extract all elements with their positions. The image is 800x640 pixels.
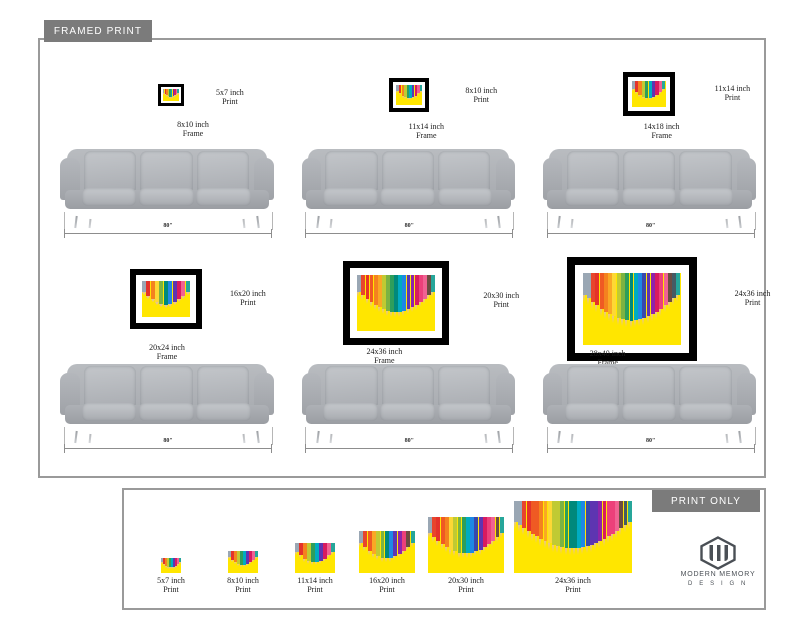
sofa-seat-cushion bbox=[139, 188, 194, 206]
pencil-tip bbox=[307, 561, 309, 564]
sofa-seat-cushion bbox=[438, 403, 493, 421]
print-only-item[interactable]: 24x36 inchPrint bbox=[514, 501, 632, 594]
pencil bbox=[500, 517, 504, 534]
print-size-caption: 8x10 inchPrint bbox=[227, 576, 259, 594]
pencil-tip bbox=[544, 541, 546, 548]
measure-guide-line bbox=[272, 427, 273, 445]
measure-guide-line bbox=[755, 427, 756, 445]
sofa-width-label: 80" bbox=[160, 438, 175, 444]
pencil-tip bbox=[466, 553, 468, 558]
pencil-tip bbox=[385, 558, 387, 562]
pencil-tip bbox=[577, 548, 579, 555]
dimension-tick bbox=[754, 444, 755, 453]
sofa-width-dimension: 80" bbox=[547, 224, 755, 238]
pencil-tip bbox=[431, 292, 433, 297]
pencil-tip bbox=[382, 309, 384, 314]
artwork-colored-pencils bbox=[396, 85, 422, 105]
room-scene: 20x30 inchPrint24x36 inchFrame80" bbox=[281, 259, 522, 474]
brand-logo: MODERN MEMORY D E S I G N bbox=[672, 536, 764, 598]
dimension-tick bbox=[512, 444, 513, 453]
print-size-caption: 11x14 inchPrint bbox=[297, 576, 332, 594]
picture-frame[interactable] bbox=[567, 257, 697, 361]
pencil-tip bbox=[638, 95, 640, 97]
logo-wordmark: MODERN MEMORY bbox=[681, 570, 756, 581]
pencil-tip bbox=[299, 555, 301, 558]
sofa-back-cushion bbox=[84, 151, 136, 192]
sofa-width-label: 80" bbox=[402, 223, 417, 229]
pencil-tip bbox=[411, 307, 413, 312]
frame-mat bbox=[350, 268, 442, 338]
dimension-bar bbox=[547, 233, 755, 234]
pencil bbox=[411, 531, 415, 544]
sofa bbox=[58, 357, 276, 443]
pencil-tip bbox=[586, 546, 588, 553]
pencil bbox=[331, 543, 335, 552]
pencil-tip bbox=[527, 531, 529, 538]
pencil-tip bbox=[635, 92, 637, 94]
pencil-tip bbox=[393, 556, 395, 560]
pencil-tip bbox=[390, 312, 392, 317]
dimension-tick bbox=[547, 444, 548, 453]
sofa-back-cushion bbox=[325, 366, 377, 407]
pencil-tip bbox=[573, 548, 575, 555]
sofa-seat-cushion bbox=[622, 403, 677, 421]
sofa-back-cushion bbox=[197, 151, 249, 192]
frame-mat bbox=[136, 275, 196, 323]
picture-frame[interactable] bbox=[623, 72, 675, 116]
picture-frame[interactable] bbox=[130, 269, 202, 329]
pencil-tip bbox=[361, 295, 363, 300]
pencil bbox=[676, 273, 680, 295]
pencil-tip bbox=[668, 302, 670, 309]
dimension-bar bbox=[547, 448, 755, 449]
pencil bbox=[628, 501, 632, 523]
artwork-colored-pencils bbox=[514, 501, 632, 573]
sofa-back-cushion bbox=[438, 151, 490, 192]
pencil-tip bbox=[615, 531, 617, 538]
pencil-tip bbox=[594, 543, 596, 550]
artwork-colored-pencils bbox=[359, 531, 415, 573]
pencil-tip bbox=[357, 292, 359, 297]
print-size-caption: 24x36 inchPrint bbox=[735, 289, 771, 308]
pencil-tip bbox=[647, 316, 649, 323]
pencil-tip bbox=[619, 528, 621, 535]
pencil-tip bbox=[632, 89, 634, 91]
sofa-seat-cushion bbox=[380, 403, 435, 421]
artwork-colored-pencils bbox=[428, 517, 504, 573]
pencil-tip bbox=[617, 318, 619, 325]
print-size-caption: 20x30 inchPrint bbox=[483, 291, 519, 310]
pencil-tip bbox=[319, 561, 321, 564]
sofa-width-label: 80" bbox=[643, 438, 658, 444]
pencil-tip bbox=[458, 553, 460, 558]
pencil-tip bbox=[535, 536, 537, 543]
dimension-tick bbox=[271, 444, 272, 453]
pencil-tip bbox=[603, 539, 605, 546]
measure-guide-line bbox=[272, 212, 273, 230]
pencil-tip bbox=[612, 316, 614, 323]
pencil-tip bbox=[228, 557, 230, 559]
pencil-tip bbox=[231, 560, 233, 562]
pencil-tip bbox=[583, 295, 585, 302]
sofa-back-cushion bbox=[438, 366, 490, 407]
sofa-back-cushion bbox=[84, 366, 136, 407]
sofa-seat-cushion bbox=[323, 403, 378, 421]
pencil-tip bbox=[173, 302, 177, 305]
sofa-back-cushion bbox=[140, 366, 192, 407]
pencil-tip bbox=[487, 544, 489, 549]
pencil-tip bbox=[655, 312, 657, 319]
pencil-tip bbox=[531, 534, 533, 541]
pencil-tip bbox=[651, 314, 653, 321]
pencil-tip bbox=[381, 558, 383, 562]
sofa-back-cushion bbox=[197, 366, 249, 407]
pencil-tip bbox=[234, 562, 236, 564]
pencil-tip bbox=[402, 551, 404, 555]
frame-size-caption: 11x14 inchFrame bbox=[381, 122, 471, 141]
sofa-seat-cushion bbox=[196, 188, 251, 206]
pencil bbox=[662, 81, 665, 89]
sofa-seat-cushion bbox=[323, 188, 378, 206]
print-only-item[interactable]: 11x14 inchPrint bbox=[284, 543, 346, 594]
sofa bbox=[299, 142, 517, 228]
frame-mat bbox=[575, 265, 689, 353]
sofa-seat-cushion bbox=[139, 403, 194, 421]
pencil-tip bbox=[186, 292, 190, 295]
pencil-tip bbox=[303, 559, 305, 562]
sofa-width-dimension: 80" bbox=[305, 224, 513, 238]
pencil-tip bbox=[565, 548, 567, 555]
sofa-seat-cushion bbox=[679, 188, 734, 206]
pencil-tip bbox=[548, 543, 550, 550]
room-scene: 24x36 inchPrint28x40 inchFrame80" bbox=[523, 259, 764, 474]
sofa-seat-cushion bbox=[196, 403, 251, 421]
pencil-tip bbox=[611, 534, 613, 541]
pencil-tip bbox=[662, 89, 664, 91]
pencil-tip bbox=[398, 312, 400, 317]
artwork-colored-pencils bbox=[228, 551, 258, 573]
pencil-tip bbox=[237, 564, 239, 566]
pencil-tip bbox=[394, 312, 396, 317]
pencil-tip bbox=[368, 551, 370, 555]
dimension-tick bbox=[64, 444, 65, 453]
pencil-tip bbox=[556, 546, 558, 553]
sofa-seat-cushion bbox=[679, 403, 734, 421]
pencil-tip bbox=[522, 528, 524, 535]
print-size-caption: 11x14 inchPrint bbox=[715, 84, 750, 103]
print-size-caption: 5x7 inchPrint bbox=[157, 576, 185, 594]
sofa-seat-cushion bbox=[380, 188, 435, 206]
print-size-caption: 16x20 inchPrint bbox=[230, 289, 266, 308]
pencil-tip bbox=[672, 298, 674, 305]
sofa-back-cushion bbox=[325, 151, 377, 192]
frame-mat bbox=[393, 82, 425, 108]
pencil-tip bbox=[539, 539, 541, 546]
pencil-tip bbox=[600, 309, 602, 316]
pencil-tip bbox=[323, 559, 325, 562]
pencil-tip bbox=[607, 536, 609, 543]
pencil-tip bbox=[389, 558, 391, 562]
pencil-tip bbox=[415, 305, 417, 310]
pencil-tip bbox=[628, 522, 630, 529]
pencil-tip bbox=[500, 533, 502, 538]
pencil-tip bbox=[608, 314, 610, 321]
hexagon-monogram-icon bbox=[698, 536, 738, 570]
dimension-tick bbox=[305, 229, 306, 238]
pencil-tip bbox=[423, 299, 425, 304]
artwork-colored-pencils bbox=[161, 558, 181, 573]
print-only-item[interactable]: 5x7 inchPrint bbox=[140, 558, 202, 594]
pencil-tip bbox=[441, 544, 443, 549]
pencil-tip bbox=[560, 547, 562, 554]
pencil-tip bbox=[652, 97, 654, 99]
sofa-back-cushion bbox=[567, 366, 619, 407]
frame-mat bbox=[161, 87, 181, 103]
print-only-item[interactable]: 8x10 inchPrint bbox=[212, 551, 274, 594]
pencil-tip bbox=[595, 305, 597, 312]
pencil bbox=[431, 275, 435, 292]
pencil bbox=[255, 551, 258, 558]
pencil-tip bbox=[366, 299, 368, 304]
print-only-row: 5x7 inchPrint8x10 inchPrint11x14 inchPri… bbox=[140, 498, 750, 594]
pencil-tip bbox=[402, 311, 404, 316]
pencil-tip bbox=[676, 295, 678, 302]
sofa-seat-cushion bbox=[565, 188, 620, 206]
sofa-back-cushion bbox=[679, 366, 731, 407]
print-size-caption: 20x30 inchPrint bbox=[448, 576, 484, 594]
sofa-back-cushion bbox=[623, 366, 675, 407]
picture-frame[interactable] bbox=[158, 84, 184, 106]
room-scene: 11x14 inchPrint14x18 inchFrame80" bbox=[523, 44, 764, 259]
frame-mat bbox=[628, 77, 670, 111]
sofa-width-dimension: 80" bbox=[547, 439, 755, 453]
pencil-tip bbox=[590, 545, 592, 552]
pencil-tip bbox=[359, 543, 361, 547]
print-size-caption: 16x20 inchPrint bbox=[369, 576, 405, 594]
pencil-tip bbox=[378, 307, 380, 312]
dimension-tick bbox=[305, 444, 306, 453]
pencil-tip bbox=[177, 564, 179, 566]
pencil-tip bbox=[315, 562, 317, 565]
sofa-seat-cushion bbox=[82, 403, 137, 421]
artwork-colored-pencils bbox=[583, 273, 681, 345]
room-scene: 16x20 inchPrint20x24 inchFrame80" bbox=[40, 259, 281, 474]
pencil-tip bbox=[569, 548, 571, 555]
pencil-tip bbox=[645, 98, 647, 100]
sofa-width-dimension: 80" bbox=[305, 439, 513, 453]
pencil-tip bbox=[432, 537, 434, 542]
sofa-seat-cushion bbox=[438, 188, 493, 206]
pencil-tip bbox=[376, 556, 378, 560]
pencil-tip bbox=[420, 91, 422, 93]
pencil-tip bbox=[581, 547, 583, 554]
pencil-tip bbox=[591, 302, 593, 309]
pencil-tip bbox=[659, 92, 661, 94]
measure-guide-line bbox=[513, 427, 514, 445]
picture-frame[interactable] bbox=[343, 261, 449, 345]
sofa-seat-cushion bbox=[622, 188, 677, 206]
pencil-tip bbox=[246, 564, 248, 566]
print-size-caption: 5x7 inchPrint bbox=[216, 88, 244, 107]
sofa-back-cushion bbox=[567, 151, 619, 192]
pencil-tip bbox=[311, 562, 313, 565]
pencil-tip bbox=[363, 547, 365, 551]
print-size-caption: 24x36 inchPrint bbox=[555, 576, 591, 594]
pencil-tip bbox=[181, 296, 185, 299]
dimension-bar bbox=[64, 448, 272, 449]
pencil-tip bbox=[252, 560, 254, 562]
dimension-tick bbox=[754, 229, 755, 238]
sofa bbox=[299, 357, 517, 443]
print-size-caption: 8x10 inchPrint bbox=[465, 86, 497, 105]
artwork-colored-pencils bbox=[295, 543, 335, 573]
pencil-tip bbox=[625, 320, 627, 327]
pencil-tip bbox=[327, 555, 329, 558]
dimension-bar bbox=[64, 233, 272, 234]
section-tab-framed-print: FRAMED PRINT bbox=[44, 20, 152, 42]
sofa-back-cushion bbox=[679, 151, 731, 192]
pencil-tip bbox=[598, 541, 600, 548]
pencil-tip bbox=[587, 298, 589, 305]
dimension-tick bbox=[271, 229, 272, 238]
pencil-tip bbox=[634, 320, 636, 327]
measure-guide-line bbox=[755, 212, 756, 230]
artwork-colored-pencils bbox=[357, 275, 435, 331]
pencil-tip bbox=[659, 309, 661, 316]
sofa-seat-cushion bbox=[565, 403, 620, 421]
sofa-width-label: 80" bbox=[402, 438, 417, 444]
pencil-tip bbox=[386, 311, 388, 316]
sofa bbox=[541, 142, 759, 228]
pencil-tip bbox=[407, 309, 409, 314]
pencil-tip bbox=[177, 93, 179, 95]
print-only-item[interactable]: 20x30 inchPrint bbox=[428, 517, 504, 594]
pencil-tip bbox=[374, 305, 376, 310]
pencil-tip bbox=[655, 95, 657, 97]
sofa-width-dimension: 80" bbox=[64, 224, 272, 238]
pencil-tip bbox=[331, 552, 333, 555]
sofa-width-dimension: 80" bbox=[64, 439, 272, 453]
pencil-tip bbox=[604, 312, 606, 319]
print-only-item[interactable]: 16x20 inchPrint bbox=[356, 531, 418, 594]
dimension-tick bbox=[512, 229, 513, 238]
pencil-tip bbox=[621, 319, 623, 326]
pencil-tip bbox=[372, 554, 374, 558]
dimension-bar bbox=[305, 448, 513, 449]
pencil-tip bbox=[483, 547, 485, 552]
measure-guide-line bbox=[513, 212, 514, 230]
pencil-tip bbox=[295, 552, 297, 555]
pencil-tip bbox=[462, 553, 464, 558]
pencil-tip bbox=[470, 553, 472, 558]
sofa-seat-cushion bbox=[82, 188, 137, 206]
pencil-tip bbox=[419, 302, 421, 307]
pencil-tip bbox=[449, 550, 451, 555]
sofa bbox=[58, 142, 276, 228]
pencil-tip bbox=[415, 96, 417, 98]
pencil-tip bbox=[249, 562, 251, 564]
pencil-tip bbox=[177, 299, 181, 302]
pencil-tip bbox=[427, 295, 429, 300]
sofa-width-label: 80" bbox=[643, 223, 658, 229]
pencil-tip bbox=[417, 93, 419, 95]
framed-print-scene-grid: 5x7 inchPrint8x10 inchFrame80"8x10 inchP… bbox=[40, 44, 764, 474]
pencil-tip bbox=[445, 547, 447, 552]
sofa-back-cushion bbox=[382, 366, 434, 407]
pencil-tip bbox=[243, 565, 245, 567]
pencil-tip bbox=[179, 562, 181, 564]
pencil-tip bbox=[630, 321, 632, 328]
pencil-tip bbox=[514, 522, 516, 529]
pencil bbox=[186, 281, 190, 292]
pencil-tip bbox=[428, 533, 430, 538]
sofa-back-cushion bbox=[140, 151, 192, 192]
pencil-tip bbox=[406, 547, 408, 551]
frame-size-caption: 8x10 inchFrame bbox=[148, 120, 238, 139]
pencil-tip bbox=[411, 543, 413, 547]
pencil-tip bbox=[642, 318, 644, 325]
pencil-tip bbox=[479, 550, 481, 555]
pencil-tip bbox=[664, 305, 666, 312]
pencil-tip bbox=[370, 302, 372, 307]
artwork-colored-pencils bbox=[632, 81, 666, 107]
logo-subtext: D E S I G N bbox=[688, 581, 748, 587]
picture-frame[interactable] bbox=[389, 78, 429, 112]
pencil-tip bbox=[398, 554, 400, 558]
pencil-tip bbox=[474, 551, 476, 556]
pencil-tip bbox=[491, 541, 493, 546]
dimension-bar bbox=[305, 233, 513, 234]
frame-size-caption: 14x18 inchFrame bbox=[617, 122, 707, 141]
sofa-width-label: 80" bbox=[160, 223, 175, 229]
pencil-tip bbox=[518, 525, 520, 532]
pencil-tip bbox=[436, 541, 438, 546]
pencil-tip bbox=[552, 545, 554, 552]
pencil-tip bbox=[649, 98, 651, 100]
pencil-tip bbox=[255, 557, 257, 559]
pencil-tip bbox=[638, 319, 640, 326]
room-scene: 5x7 inchPrint8x10 inchFrame80" bbox=[40, 44, 281, 259]
pencil-tip bbox=[240, 565, 242, 567]
dimension-tick bbox=[64, 229, 65, 238]
pencil-tip bbox=[453, 551, 455, 556]
pencil-tip bbox=[496, 537, 498, 542]
pencil-tip bbox=[642, 97, 644, 99]
dimension-tick bbox=[547, 229, 548, 238]
sofa bbox=[541, 357, 759, 443]
room-scene: 8x10 inchPrint11x14 inchFrame80" bbox=[281, 44, 522, 259]
artwork-colored-pencils bbox=[163, 89, 179, 101]
pencil-tip bbox=[624, 525, 626, 532]
sofa-back-cushion bbox=[382, 151, 434, 192]
artwork-colored-pencils bbox=[142, 281, 190, 317]
sofa-back-cushion bbox=[623, 151, 675, 192]
